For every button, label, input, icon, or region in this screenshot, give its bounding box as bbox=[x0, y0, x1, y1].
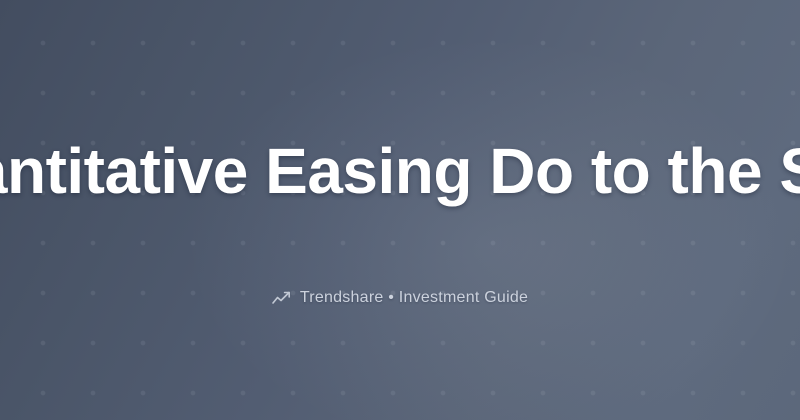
hero-card: Quantitative Easing Do to the Stoc Trend… bbox=[0, 0, 800, 420]
hero-content: Quantitative Easing Do to the Stoc Trend… bbox=[0, 0, 800, 420]
trend-line-icon bbox=[272, 291, 291, 306]
title-row: Quantitative Easing Do to the Stoc bbox=[0, 95, 800, 247]
page-title: Quantitative Easing Do to the Stoc bbox=[0, 138, 800, 205]
subtitle-label: Trendshare • Investment Guide bbox=[300, 289, 528, 307]
subtitle-row: Trendshare • Investment Guide bbox=[272, 289, 528, 307]
